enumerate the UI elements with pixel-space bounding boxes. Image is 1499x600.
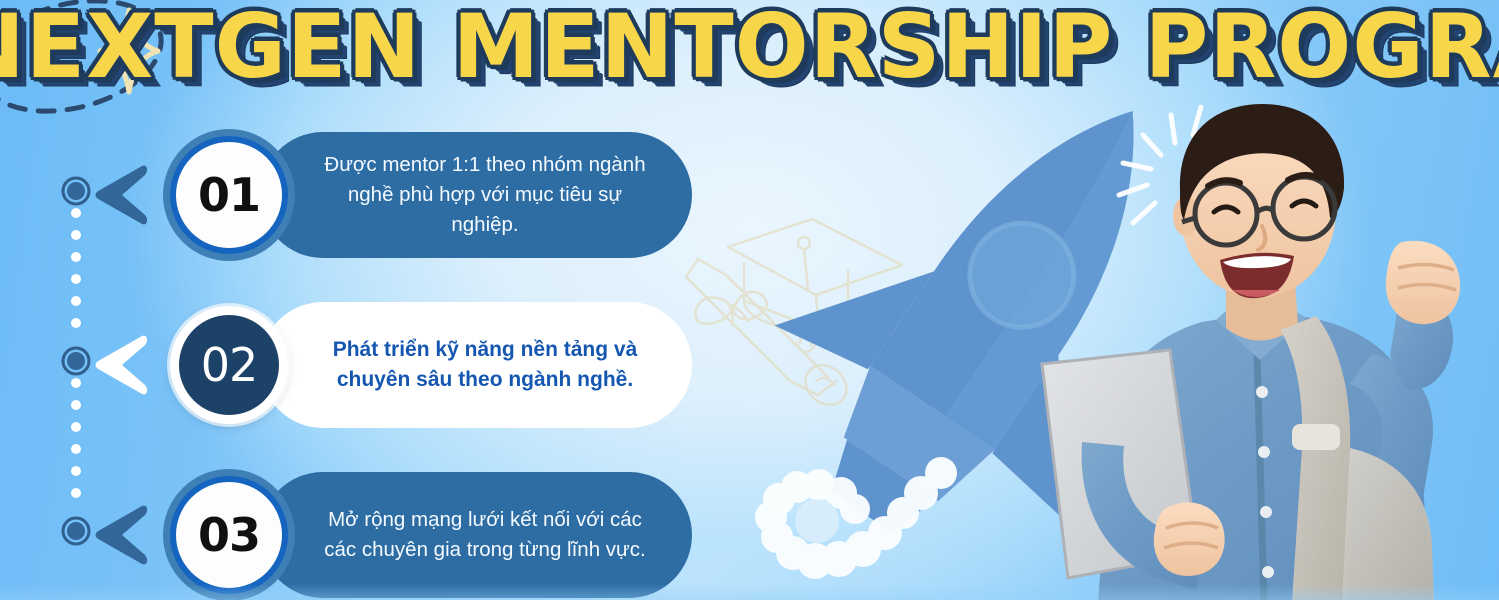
- list-item[interactable]: 03 Mở rộng mạng lưới kết nối với các các…: [92, 460, 712, 600]
- step-number: 02: [201, 338, 258, 392]
- step-text: Được mentor 1:1 theo nhóm ngành nghề phù…: [312, 150, 658, 240]
- step-number: 01: [198, 168, 260, 222]
- chevron-left-icon: [92, 330, 150, 405]
- page-title: NEXTGEN MENTORSHIP PROGRAM: [0, 0, 1499, 92]
- title-text: NEXTGEN MENTORSHIP PROGRAM: [0, 0, 1499, 100]
- step-number-badge: 03: [170, 476, 288, 594]
- step-number: 03: [198, 508, 260, 562]
- step-text: Phát triển kỹ năng nền tảng và chuyên sâ…: [312, 335, 658, 395]
- steps-list: 01 Được mentor 1:1 theo nhóm ngành nghề …: [92, 120, 712, 600]
- list-item[interactable]: 02 Phát triển kỹ năng nền tảng và chuyên…: [92, 290, 712, 460]
- dotted-timeline-icon: [58, 165, 94, 570]
- chevron-left-icon: [92, 500, 150, 575]
- step-pill[interactable]: Được mentor 1:1 theo nhóm ngành nghề phù…: [260, 132, 692, 258]
- step-text: Mở rộng mạng lưới kết nối với các các ch…: [312, 505, 658, 565]
- cheering-student-photo: [1020, 92, 1490, 600]
- smoke-swirl-icon: [745, 455, 985, 600]
- step-number-badge: 01: [170, 136, 288, 254]
- step-pill[interactable]: Phát triển kỹ năng nền tảng và chuyên sâ…: [260, 302, 692, 428]
- list-item[interactable]: 01 Được mentor 1:1 theo nhóm ngành nghề …: [92, 120, 712, 290]
- step-number-badge: 02: [170, 306, 288, 424]
- chevron-left-icon: [92, 160, 150, 235]
- poster-canvas: 01 Được mentor 1:1 theo nhóm ngành nghề …: [0, 0, 1499, 600]
- step-pill[interactable]: Mở rộng mạng lưới kết nối với các các ch…: [260, 472, 692, 598]
